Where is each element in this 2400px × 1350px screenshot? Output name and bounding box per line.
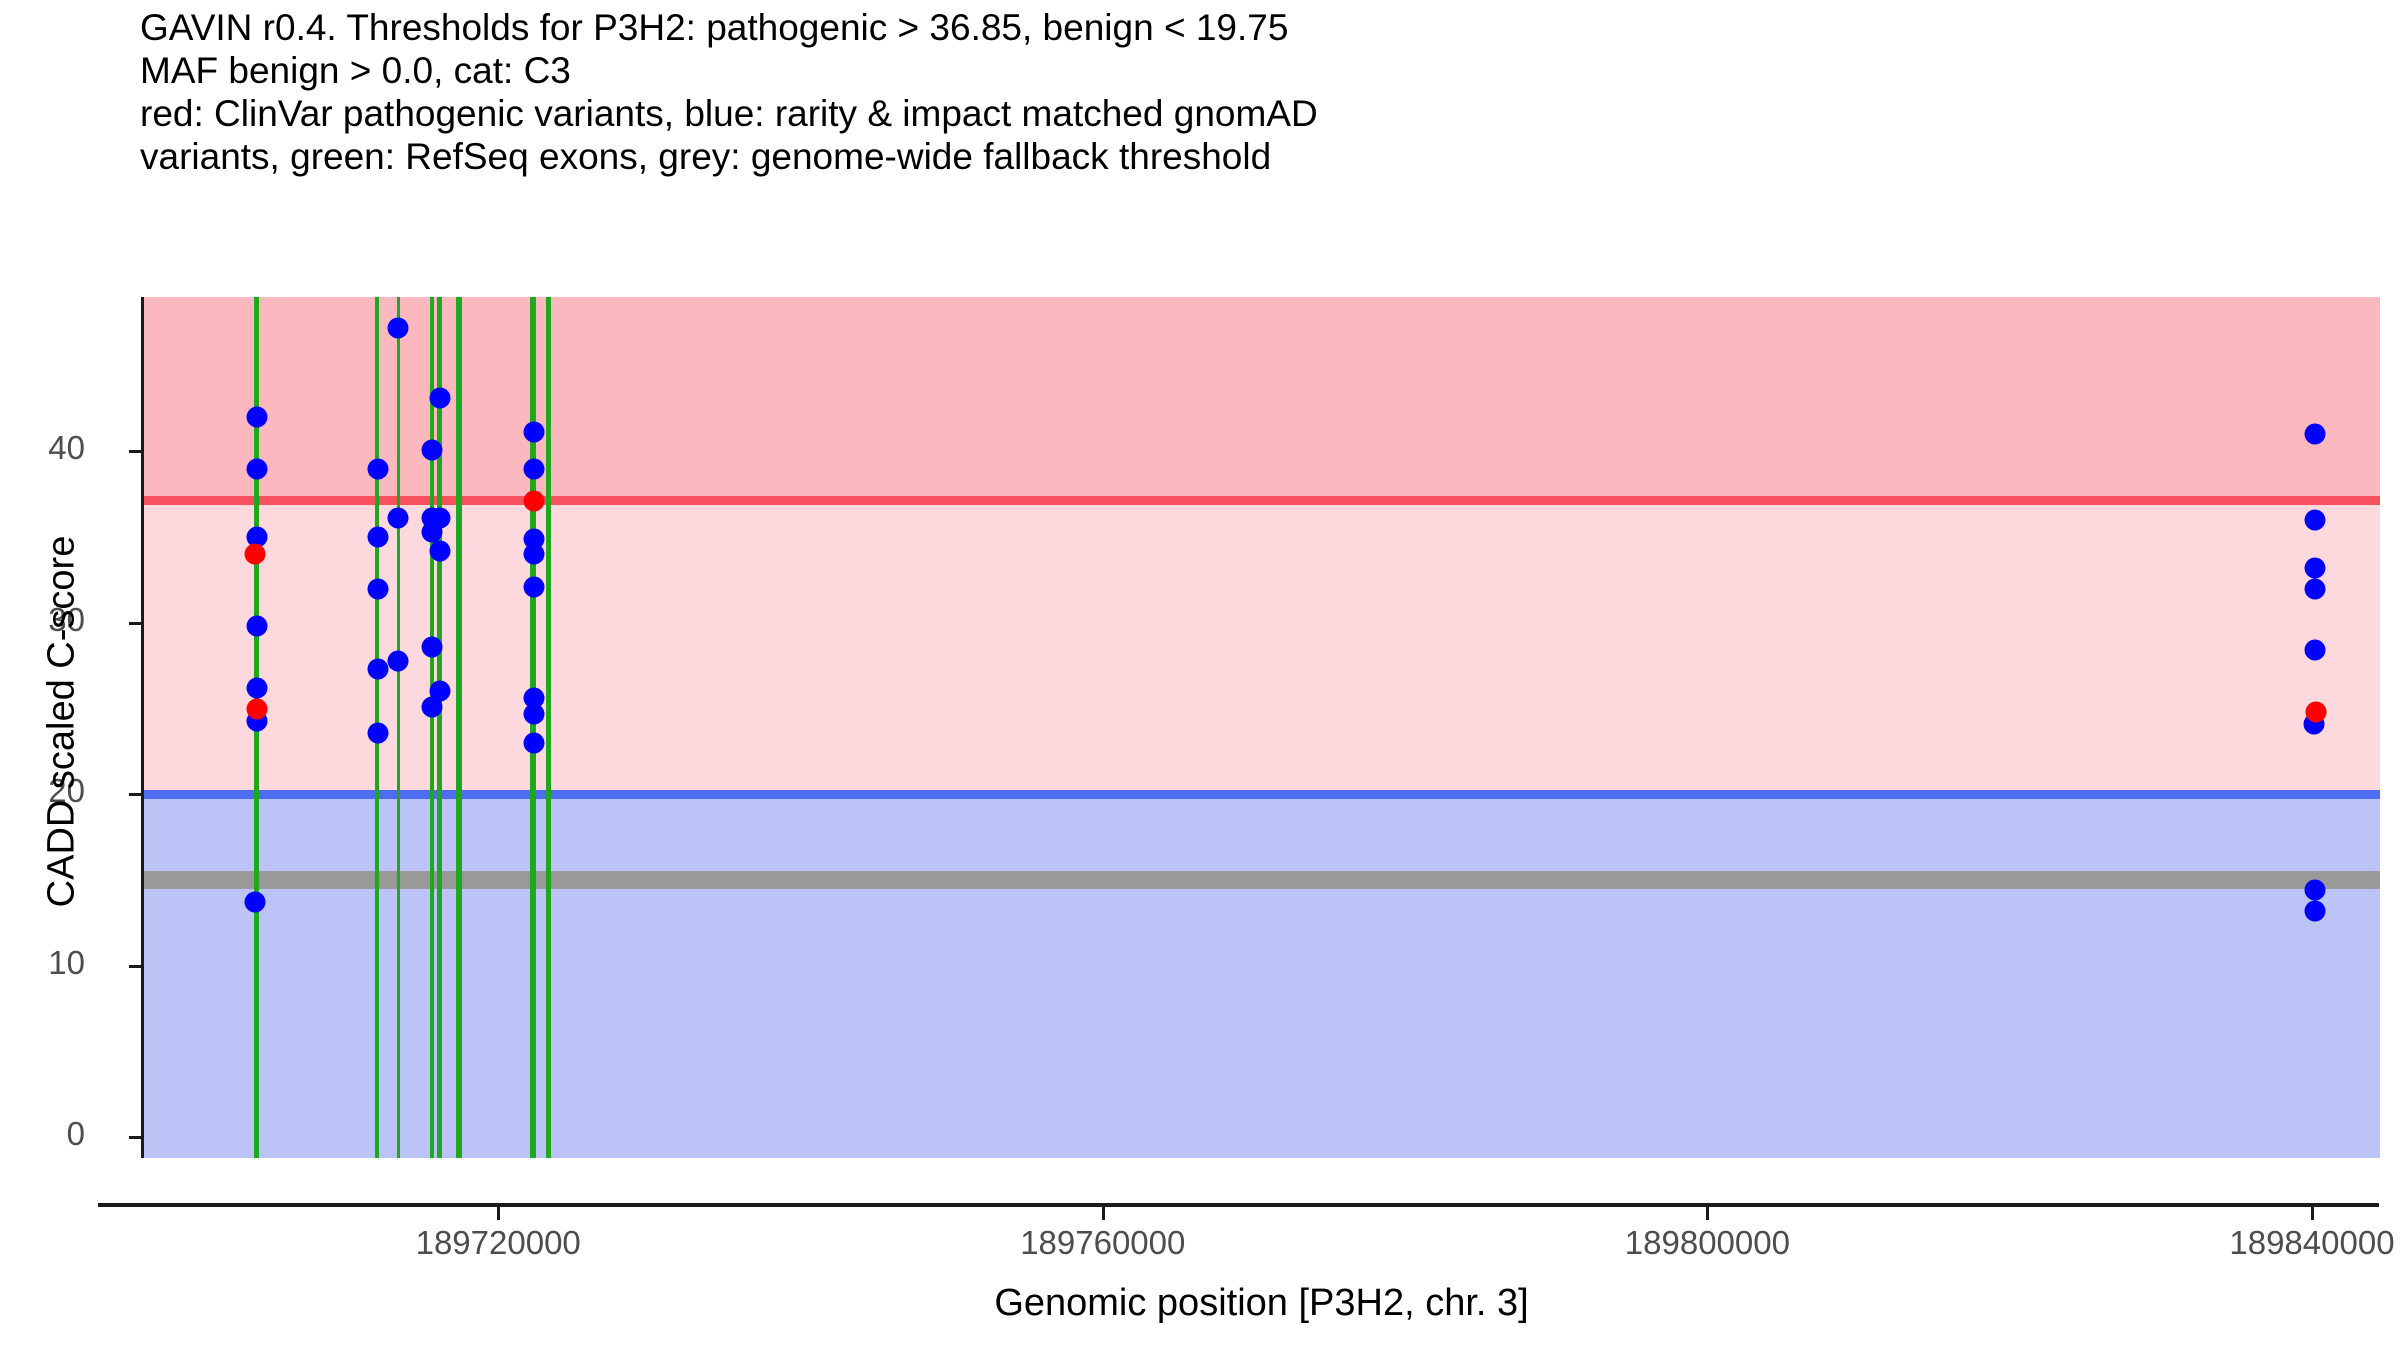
data-point-gnomad (422, 439, 443, 460)
data-point-gnomad (388, 650, 409, 671)
x-tick-mark (2311, 1207, 2314, 1220)
x-tick-label: 189800000 (1625, 1224, 1790, 1262)
data-point-gnomad (368, 527, 389, 548)
data-point-gnomad (430, 540, 451, 561)
title-line-4: variants, green: RefSeq exons, grey: gen… (140, 135, 2340, 178)
data-point-gnomad (368, 659, 389, 680)
data-point-gnomad (523, 703, 544, 724)
x-axis-line (98, 1203, 2379, 1207)
data-point-gnomad (247, 678, 268, 699)
title-line-1: GAVIN r0.4. Thresholds for P3H2: pathoge… (140, 6, 2340, 49)
x-tick-mark (1102, 1207, 1105, 1220)
data-point-gnomad (368, 578, 389, 599)
exon-line (456, 297, 462, 1158)
x-tick-mark (1706, 1207, 1709, 1220)
x-tick-label: 189760000 (1020, 1224, 1185, 1262)
band-benign-zone (143, 799, 2380, 1158)
data-point-gnomad (523, 458, 544, 479)
data-point-gnomad (430, 681, 451, 702)
data-point-pathogenic (244, 544, 265, 565)
data-point-gnomad (368, 458, 389, 479)
x-tick-label: 189840000 (2229, 1224, 2394, 1262)
exon-line (437, 297, 442, 1158)
chart-title-block: GAVIN r0.4. Thresholds for P3H2: pathoge… (140, 6, 2340, 178)
plot-area (143, 297, 2380, 1158)
x-tick-mark (497, 1207, 500, 1220)
y-tick-mark (129, 622, 141, 625)
data-point-gnomad (2305, 640, 2326, 661)
data-point-gnomad (2305, 901, 2326, 922)
data-point-pathogenic (523, 491, 544, 512)
data-point-gnomad (523, 422, 544, 443)
title-line-3: red: ClinVar pathogenic variants, blue: … (140, 92, 2340, 135)
data-point-gnomad (430, 508, 451, 529)
y-axis-title: CADD scaled C-score (41, 402, 84, 1042)
data-point-gnomad (368, 722, 389, 743)
x-tick-label: 189720000 (416, 1224, 581, 1262)
data-point-gnomad (523, 732, 544, 753)
data-point-gnomad (247, 407, 268, 428)
exon-line (546, 297, 551, 1158)
data-point-gnomad (2305, 424, 2326, 445)
y-tick-label: 0 (67, 1115, 85, 1153)
data-point-gnomad (2305, 557, 2326, 578)
data-point-pathogenic (2305, 702, 2326, 723)
line-fallback-threshold-line (143, 871, 2380, 889)
y-tick-mark (129, 793, 141, 796)
data-point-gnomad (247, 458, 268, 479)
data-point-gnomad (422, 636, 443, 657)
data-point-gnomad (2305, 880, 2326, 901)
title-line-2: MAF benign > 0.0, cat: C3 (140, 49, 2340, 92)
exon-line (430, 297, 434, 1158)
data-point-pathogenic (247, 698, 268, 719)
y-tick-mark (129, 1136, 141, 1139)
exon-line (397, 297, 400, 1158)
data-point-gnomad (388, 317, 409, 338)
data-point-gnomad (388, 508, 409, 529)
data-point-gnomad (2305, 578, 2326, 599)
band-vus-zone (143, 505, 2380, 798)
data-point-gnomad (523, 576, 544, 597)
y-tick-mark (129, 450, 141, 453)
data-point-gnomad (2305, 509, 2326, 530)
x-axis-title: Genomic position [P3H2, chr. 3] (143, 1282, 2380, 1325)
y-axis-line (141, 297, 144, 1158)
y-tick-mark (129, 965, 141, 968)
band-pathogenic-zone (143, 297, 2380, 505)
chart-canvas: GAVIN r0.4. Thresholds for P3H2: pathoge… (0, 0, 2400, 1350)
data-point-gnomad (430, 388, 451, 409)
data-point-gnomad (523, 544, 544, 565)
data-point-gnomad (244, 892, 265, 913)
data-point-gnomad (247, 616, 268, 637)
